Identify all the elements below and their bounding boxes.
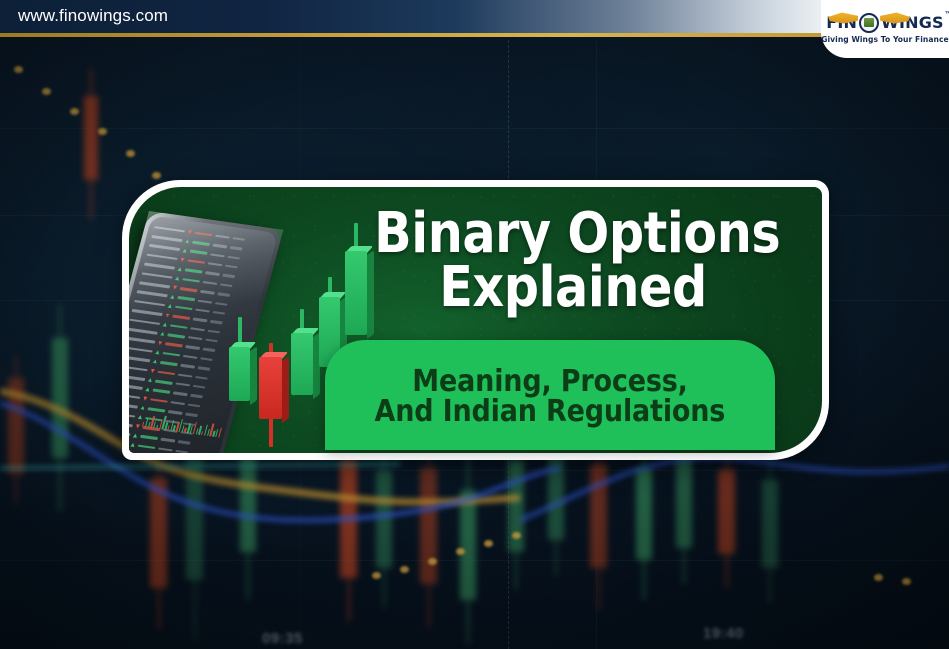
logo-tagline: Giving Wings To Your Finance [821,35,948,44]
card-title: Binary Options Explained [347,207,799,315]
top-bar: www.finowings.com [0,0,949,33]
poster-canvas: 09:35 19:40 www.finowings.com FIN WINGS … [0,0,949,649]
website-url[interactable]: www.finowings.com [18,6,168,26]
trademark-icon: ™ [945,11,949,18]
logo-wordmark: FIN WINGS ™ [826,13,944,33]
title-line-1: Binary Options [374,207,772,261]
subtitle-line-1: Meaning, Process, [412,367,687,397]
subtitle-line-2: And Indian Regulations [375,397,726,427]
title-line-2: Explained [374,261,772,315]
finowings-logo[interactable]: FIN WINGS ™ Giving Wings To Your Finance [821,0,949,58]
gold-divider-rule [0,33,949,37]
subtitle-banner: Meaning, Process, And Indian Regulations [325,340,775,450]
wings-globe-icon [859,13,879,33]
